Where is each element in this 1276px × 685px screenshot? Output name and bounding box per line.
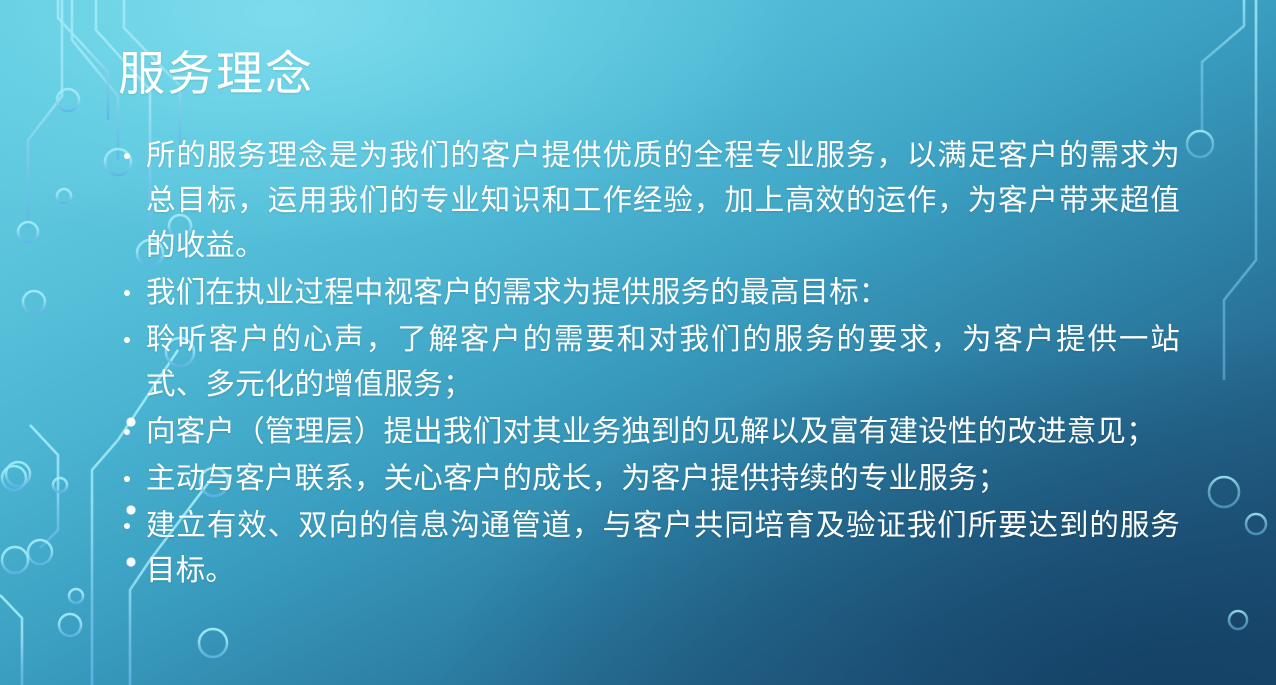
list-item: 建立有效、双向的信息沟通管道，与客户共同培育及验证我们所要达到的服务目标。: [118, 503, 1180, 593]
list-item: 主动与客户联系，关心客户的成长，为客户提供持续的专业服务；: [118, 456, 1180, 501]
list-item: 聆听客户的心声，了解客户的需要和对我们的服务的要求，为客户提供一站式、多元化的增…: [118, 317, 1180, 407]
list-item-text: 聆听客户的心声，了解客户的需要和对我们的服务的要求，为客户提供一站式、多元化的增…: [146, 317, 1180, 407]
presentation-slide: 服务理念 所的服务理念是为我们的客户提供优质的全程专业服务，以满足客户的需求为总…: [0, 0, 1276, 685]
list-item-text: 我们在执业过程中视客户的需求为提供服务的最高目标：: [146, 270, 1180, 315]
list-item-text: 向客户（管理层）提出我们对其业务独到的见解以及富有建设性的改进意见；: [146, 409, 1180, 454]
list-item-text: 所的服务理念是为我们的客户提供优质的全程专业服务，以满足客户的需求为总目标，运用…: [146, 133, 1180, 268]
page-title: 服务理念: [118, 48, 314, 102]
list-item: 我们在执业过程中视客户的需求为提供服务的最高目标：: [118, 270, 1180, 315]
list-item: 向客户（管理层）提出我们对其业务独到的见解以及富有建设性的改进意见；: [118, 409, 1180, 454]
list-item-text: 建立有效、双向的信息沟通管道，与客户共同培育及验证我们所要达到的服务目标。: [146, 503, 1180, 593]
slide-content: 服务理念 所的服务理念是为我们的客户提供优质的全程专业服务，以满足客户的需求为总…: [0, 0, 1276, 685]
bullet-list: 所的服务理念是为我们的客户提供优质的全程专业服务，以满足客户的需求为总目标，运用…: [118, 133, 1180, 595]
list-item-text: 主动与客户联系，关心客户的成长，为客户提供持续的专业服务；: [146, 456, 1180, 501]
list-item: 所的服务理念是为我们的客户提供优质的全程专业服务，以满足客户的需求为总目标，运用…: [118, 133, 1180, 268]
